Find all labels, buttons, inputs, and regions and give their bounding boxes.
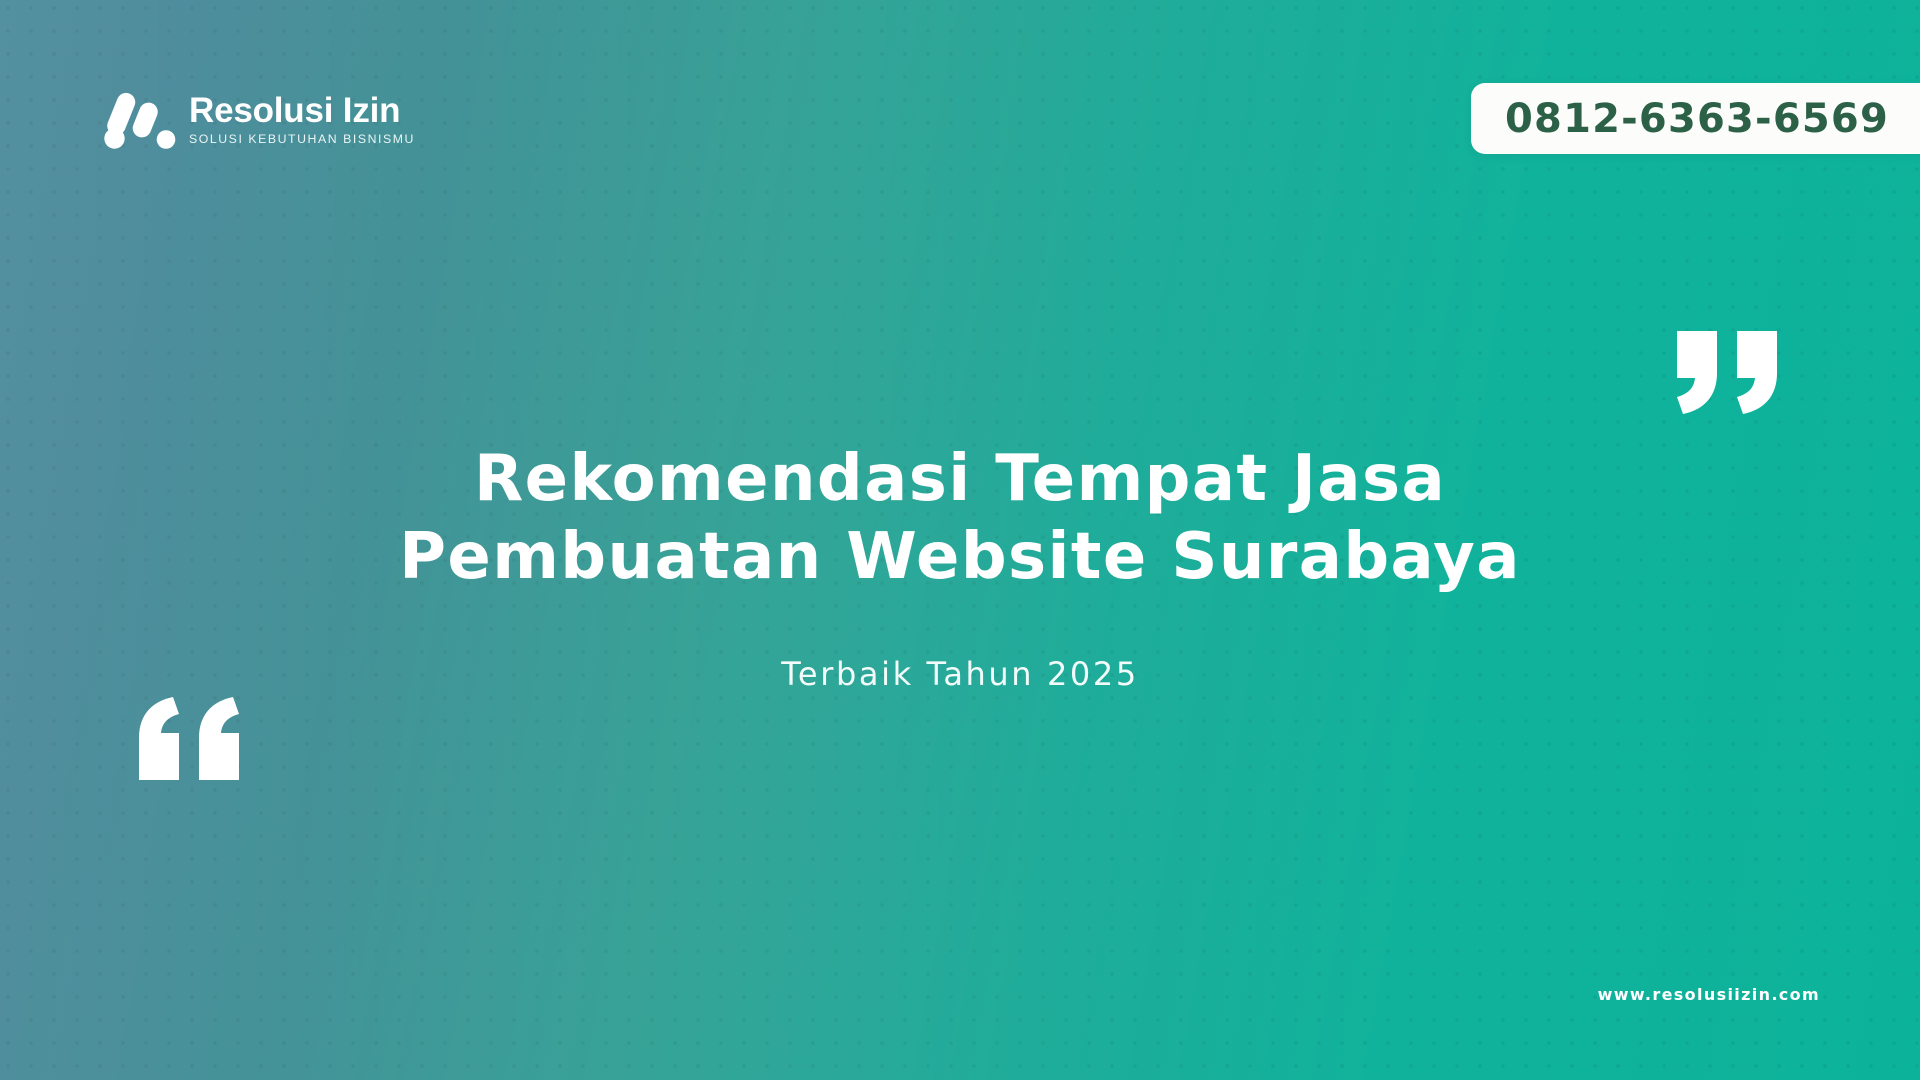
quote-close-icon (1677, 331, 1785, 414)
phone-badge[interactable]: 0812-6363-6569 (1471, 83, 1920, 154)
headline-line-1: Rekomendasi Tempat Jasa (120, 440, 1800, 518)
resolusi-izin-logo-mark-icon (104, 88, 176, 150)
poster-canvas: Resolusi Izin SOLUSI KEBUTUHAN BISNISMU … (0, 0, 1920, 1080)
subtitle: Terbaik Tahun 2025 (0, 655, 1920, 693)
brand-logo[interactable]: Resolusi Izin SOLUSI KEBUTUHAN BISNISMU (104, 88, 415, 150)
website-url[interactable]: www.resolusiizin.com (1598, 985, 1820, 1004)
brand-tagline: SOLUSI KEBUTUHAN BISNISMU (189, 132, 415, 147)
headline: Rekomendasi Tempat Jasa Pembuatan Websit… (0, 440, 1920, 596)
quote-open-icon (139, 697, 247, 780)
brand-logo-text: Resolusi Izin SOLUSI KEBUTUHAN BISNISMU (189, 91, 415, 146)
phone-number-text: 0812-6363-6569 (1505, 96, 1889, 142)
headline-line-2: Pembuatan Website Surabaya (120, 518, 1800, 596)
brand-name: Resolusi Izin (189, 93, 415, 129)
